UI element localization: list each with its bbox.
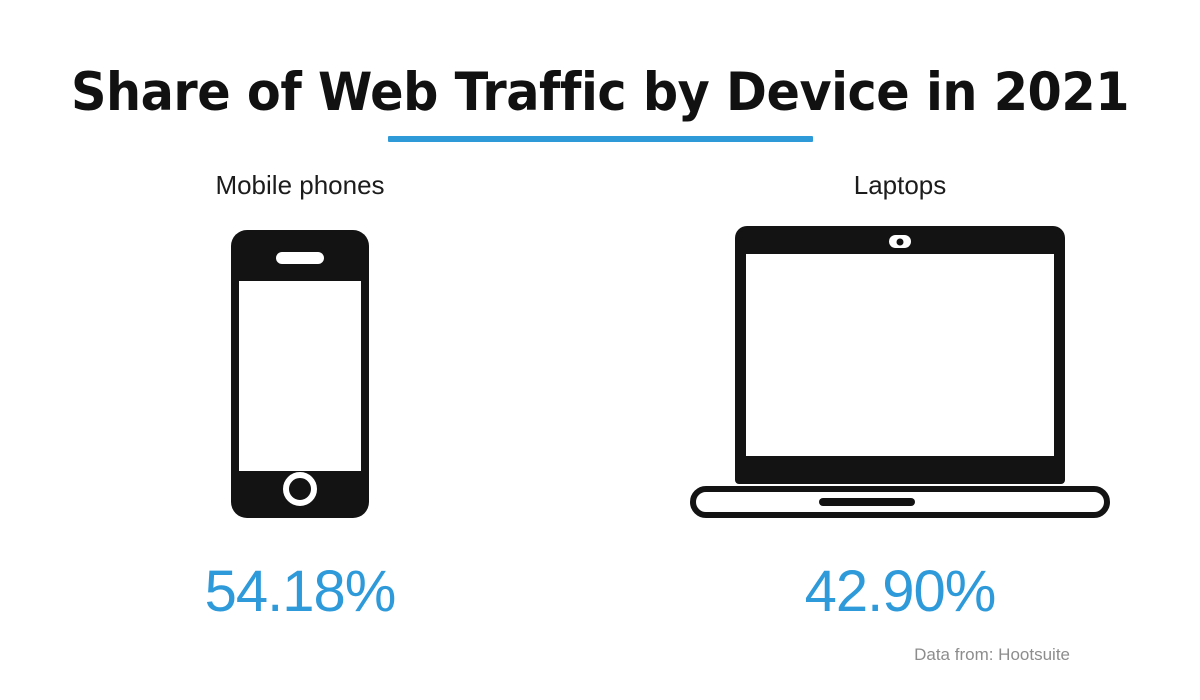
mobile-phone-icon xyxy=(231,230,369,518)
laptop-screen xyxy=(746,254,1054,456)
device-label-mobile-phones: Mobile phones xyxy=(215,170,384,200)
device-column-laptops: Laptops 42.90% xyxy=(600,170,1200,640)
device-value-mobile-phones: 54.18% xyxy=(205,560,396,624)
laptop-base xyxy=(690,486,1110,518)
laptop-trackpad xyxy=(819,498,915,506)
phone-screen xyxy=(239,281,361,471)
device-columns: Mobile phones 54.18% Laptops xyxy=(0,170,1200,640)
laptop-icon xyxy=(690,226,1110,518)
phone-home-button-icon xyxy=(283,472,317,506)
phone-earpiece-speaker-icon xyxy=(276,252,324,264)
device-figure-laptops xyxy=(680,218,1120,518)
source-attribution: Data from: Hootsuite xyxy=(914,644,1070,666)
device-value-laptops: 42.90% xyxy=(805,560,996,624)
device-column-mobile-phones: Mobile phones 54.18% xyxy=(0,170,600,640)
title-underline-rule xyxy=(388,136,813,142)
device-figure-mobile-phones xyxy=(80,218,520,518)
laptop-webcam-icon xyxy=(889,235,911,248)
page-title: Share of Web Traffic by Device in 2021 xyxy=(42,62,1158,124)
infographic-canvas: Share of Web Traffic by Device in 2021 M… xyxy=(0,0,1200,700)
device-label-laptops: Laptops xyxy=(854,170,947,200)
title-block: Share of Web Traffic by Device in 2021 xyxy=(0,62,1200,142)
laptop-lid xyxy=(735,226,1065,484)
